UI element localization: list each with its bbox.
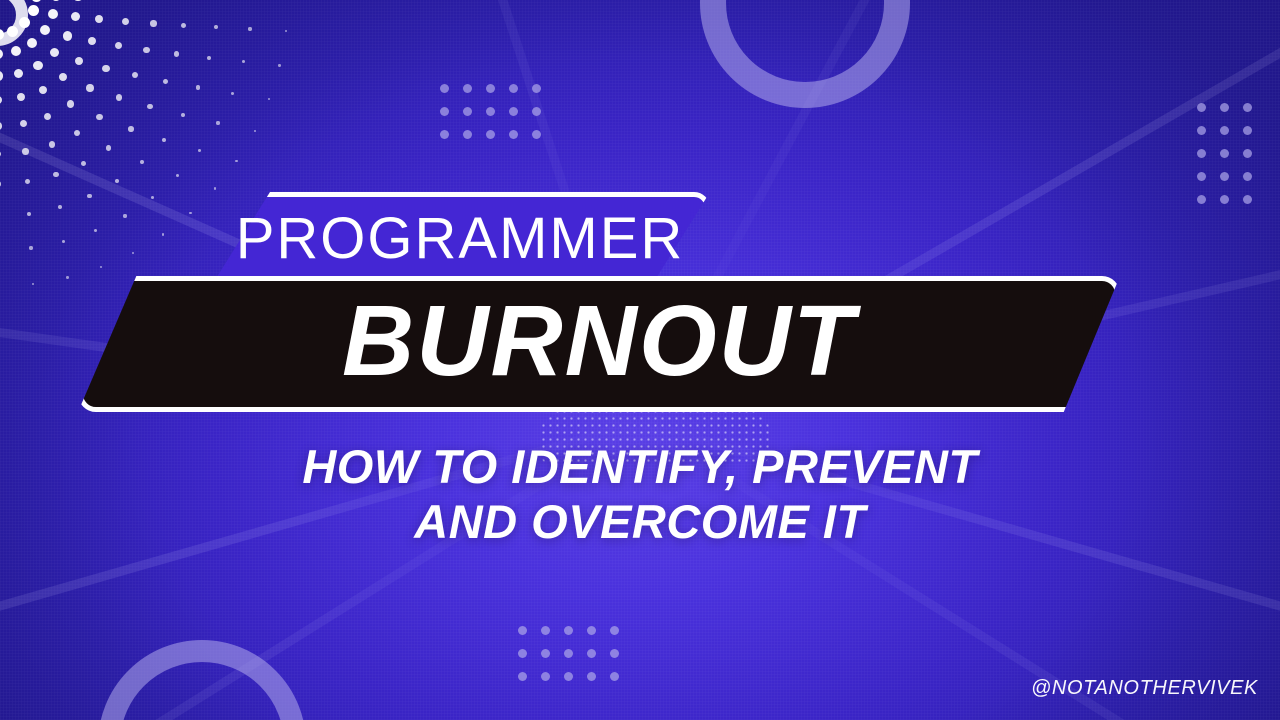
banner-label: BURNOUT [78, 276, 1120, 412]
subtitle: HOW TO IDENTIFY, PREVENT AND OVERCOME IT [0, 440, 1280, 550]
subtitle-line-1: HOW TO IDENTIFY, PREVENT [302, 440, 977, 493]
burnout-banner: BURNOUT [78, 276, 1120, 412]
subtitle-line-2: AND OVERCOME IT [0, 495, 1280, 550]
author-handle: @NOTANOTHERVIVEK [1031, 677, 1258, 700]
programmer-badge: PROGRAMMER [210, 192, 710, 288]
poster-canvas: PROGRAMMER BURNOUT HOW TO IDENTIFY, PREV… [0, 0, 1280, 720]
badge-label: PROGRAMMER [210, 192, 710, 288]
title-block: PROGRAMMER BURNOUT HOW TO IDENTIFY, PREV… [0, 0, 1280, 720]
